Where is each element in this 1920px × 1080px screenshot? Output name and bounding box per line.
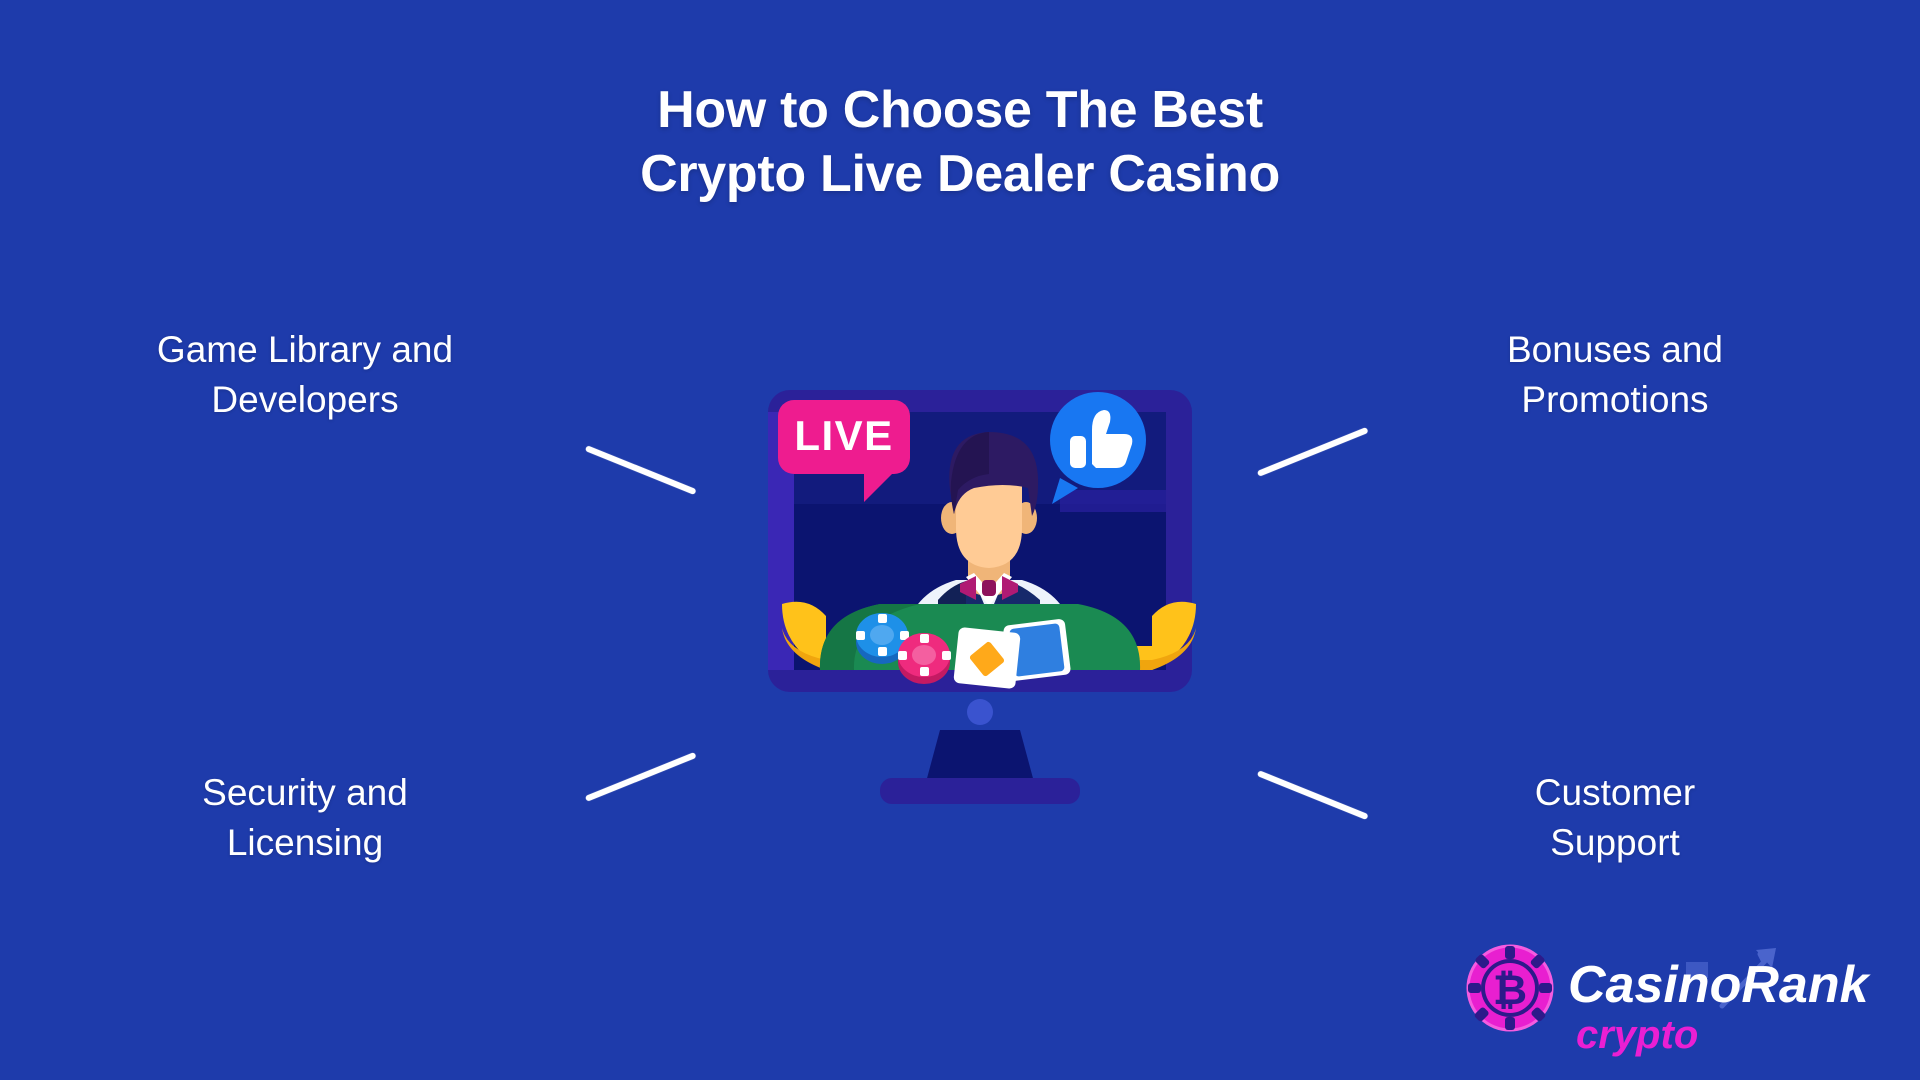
- casino-chip-pink: [898, 633, 951, 684]
- label-customer-support: Customer Support: [1400, 768, 1830, 868]
- monitor-screen-band-2: [1060, 490, 1166, 512]
- bitcoin-casino-chip-icon: ₿: [1468, 946, 1552, 1030]
- title-line-1: How to Choose The Best: [657, 81, 1263, 139]
- connector-line-bottom-left: [585, 752, 697, 802]
- monitor-power-dot: [967, 699, 993, 725]
- page-title: How to Choose The Best Crypto Live Deale…: [0, 78, 1920, 207]
- casinorank-crypto-logo[interactable]: ₿ CasinoRank crypto: [1464, 940, 1884, 1058]
- live-dealer-illustration: LIVE: [760, 378, 1200, 818]
- logo-brand-main: CasinoRank: [1568, 956, 1872, 1014]
- playing-card-white: [953, 627, 1021, 689]
- label-game-library-and-developers: Game Library and Developers: [90, 325, 520, 425]
- monitor-stand-neck: [926, 730, 1034, 782]
- connector-line-top-right: [1257, 427, 1369, 477]
- connector-line-bottom-right: [1257, 770, 1369, 820]
- infographic-canvas: How to Choose The Best Crypto Live Deale…: [0, 0, 1920, 1080]
- bitcoin-symbol: ₿: [1493, 966, 1527, 1013]
- title-line-2: Crypto Live Dealer Casino: [0, 142, 1920, 206]
- monitor-stand-base: [880, 778, 1080, 804]
- live-badge-text: LIVE: [794, 412, 893, 459]
- label-bonuses-and-promotions: Bonuses and Promotions: [1400, 325, 1830, 425]
- connector-line-top-left: [585, 445, 697, 495]
- logo-brand-sub: crypto: [1576, 1013, 1698, 1057]
- label-security-and-licensing: Security and Licensing: [90, 768, 520, 868]
